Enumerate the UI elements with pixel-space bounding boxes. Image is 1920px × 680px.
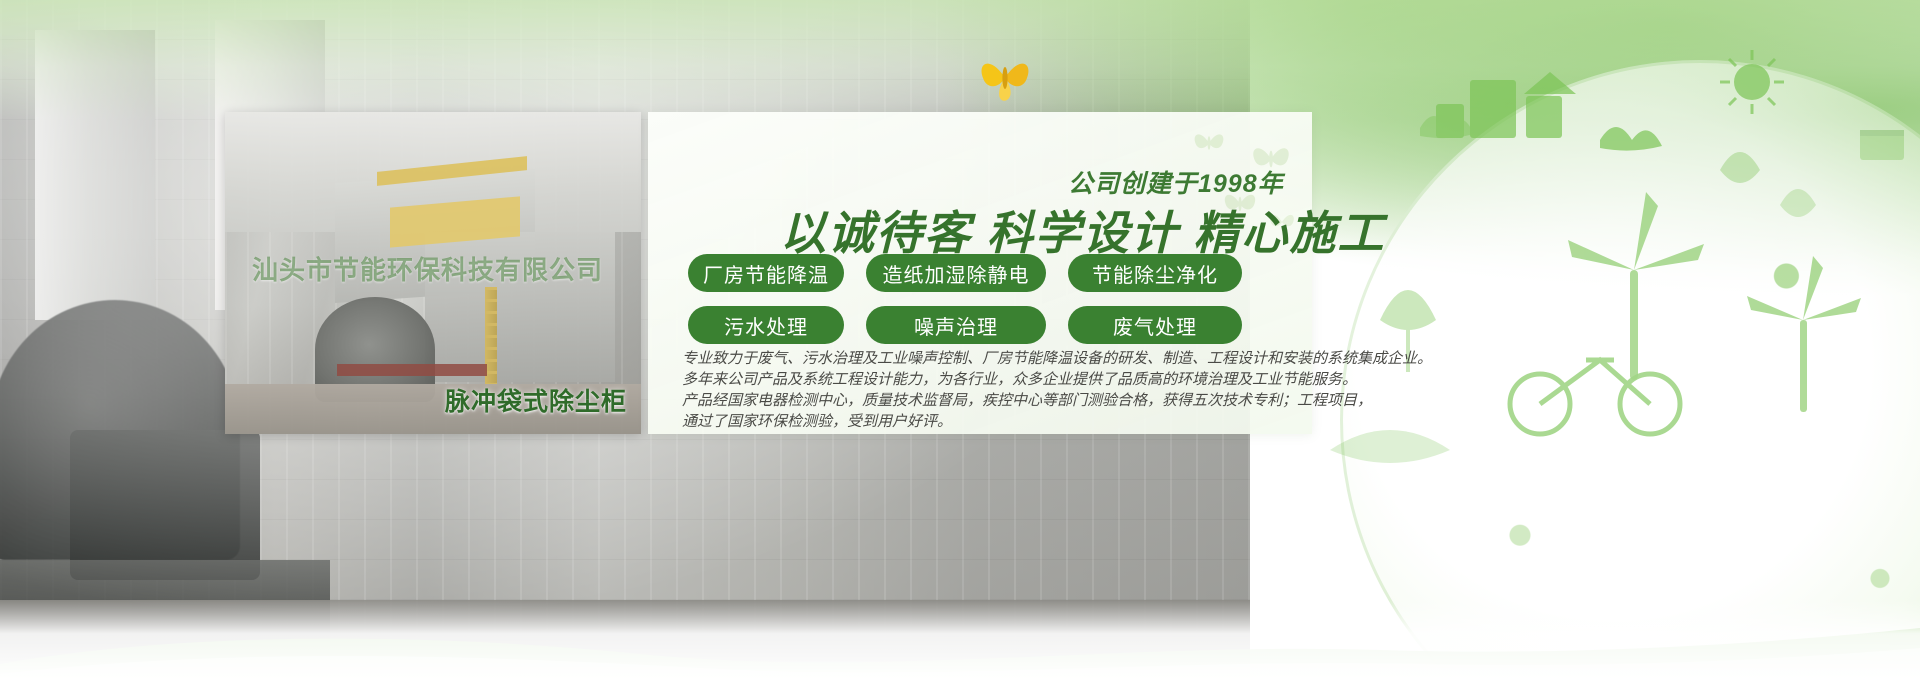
service-tag-list: 厂房节能降温 造纸加湿除静电 节能除尘净化 污水处理 噪声治理 废气处理 (688, 254, 1288, 344)
bottom-white-fade (0, 600, 1920, 680)
content-panel: 公司创建于1998年 以诚待客 科学设计 精心施工 厂房节能降温 造纸加湿除静电… (648, 112, 1312, 434)
photo-red-beam (337, 364, 487, 376)
company-founded-subtitle: 公司创建于1998年 (1068, 164, 1284, 200)
description-line: 产品经国家电器检测中心，质量技术监督局，疾控中心等部门测验合格，获得五次技术专利… (682, 390, 1302, 411)
service-tag[interactable]: 节能除尘净化 (1068, 254, 1242, 292)
service-tag[interactable]: 噪声治理 (866, 306, 1046, 344)
service-tag[interactable]: 造纸加湿除静电 (866, 254, 1046, 292)
description-line: 专业致力于废气、污水治理及工业噪声控制、厂房节能降温设备的研发、制造、工程设计和… (682, 348, 1302, 369)
banner-stage: 脉冲袋式除尘柜 汕头市节能环保科技有限公司 (0, 0, 1920, 680)
company-description: 专业致力于废气、污水治理及工业噪声控制、厂房节能降温设备的研发、制造、工程设计和… (682, 348, 1302, 432)
service-tag[interactable]: 厂房节能降温 (688, 254, 844, 292)
eco-city-illustration (1300, 20, 1920, 500)
description-line: 多年来公司产品及系统工程设计能力，为各行业，众多企业提供了品质高的环境治理及工业… (682, 369, 1302, 390)
product-photo-card[interactable]: 脉冲袋式除尘柜 (225, 112, 641, 434)
butterfly-icon (975, 48, 1035, 106)
photo-dust-collector-body (425, 232, 615, 382)
description-line: 通过了国家环保检测验，受到用户好评。 (682, 411, 1302, 432)
photo-caption: 脉冲袋式除尘柜 (445, 382, 627, 418)
service-tag[interactable]: 废气处理 (1068, 306, 1242, 344)
service-tag[interactable]: 污水处理 (688, 306, 844, 344)
